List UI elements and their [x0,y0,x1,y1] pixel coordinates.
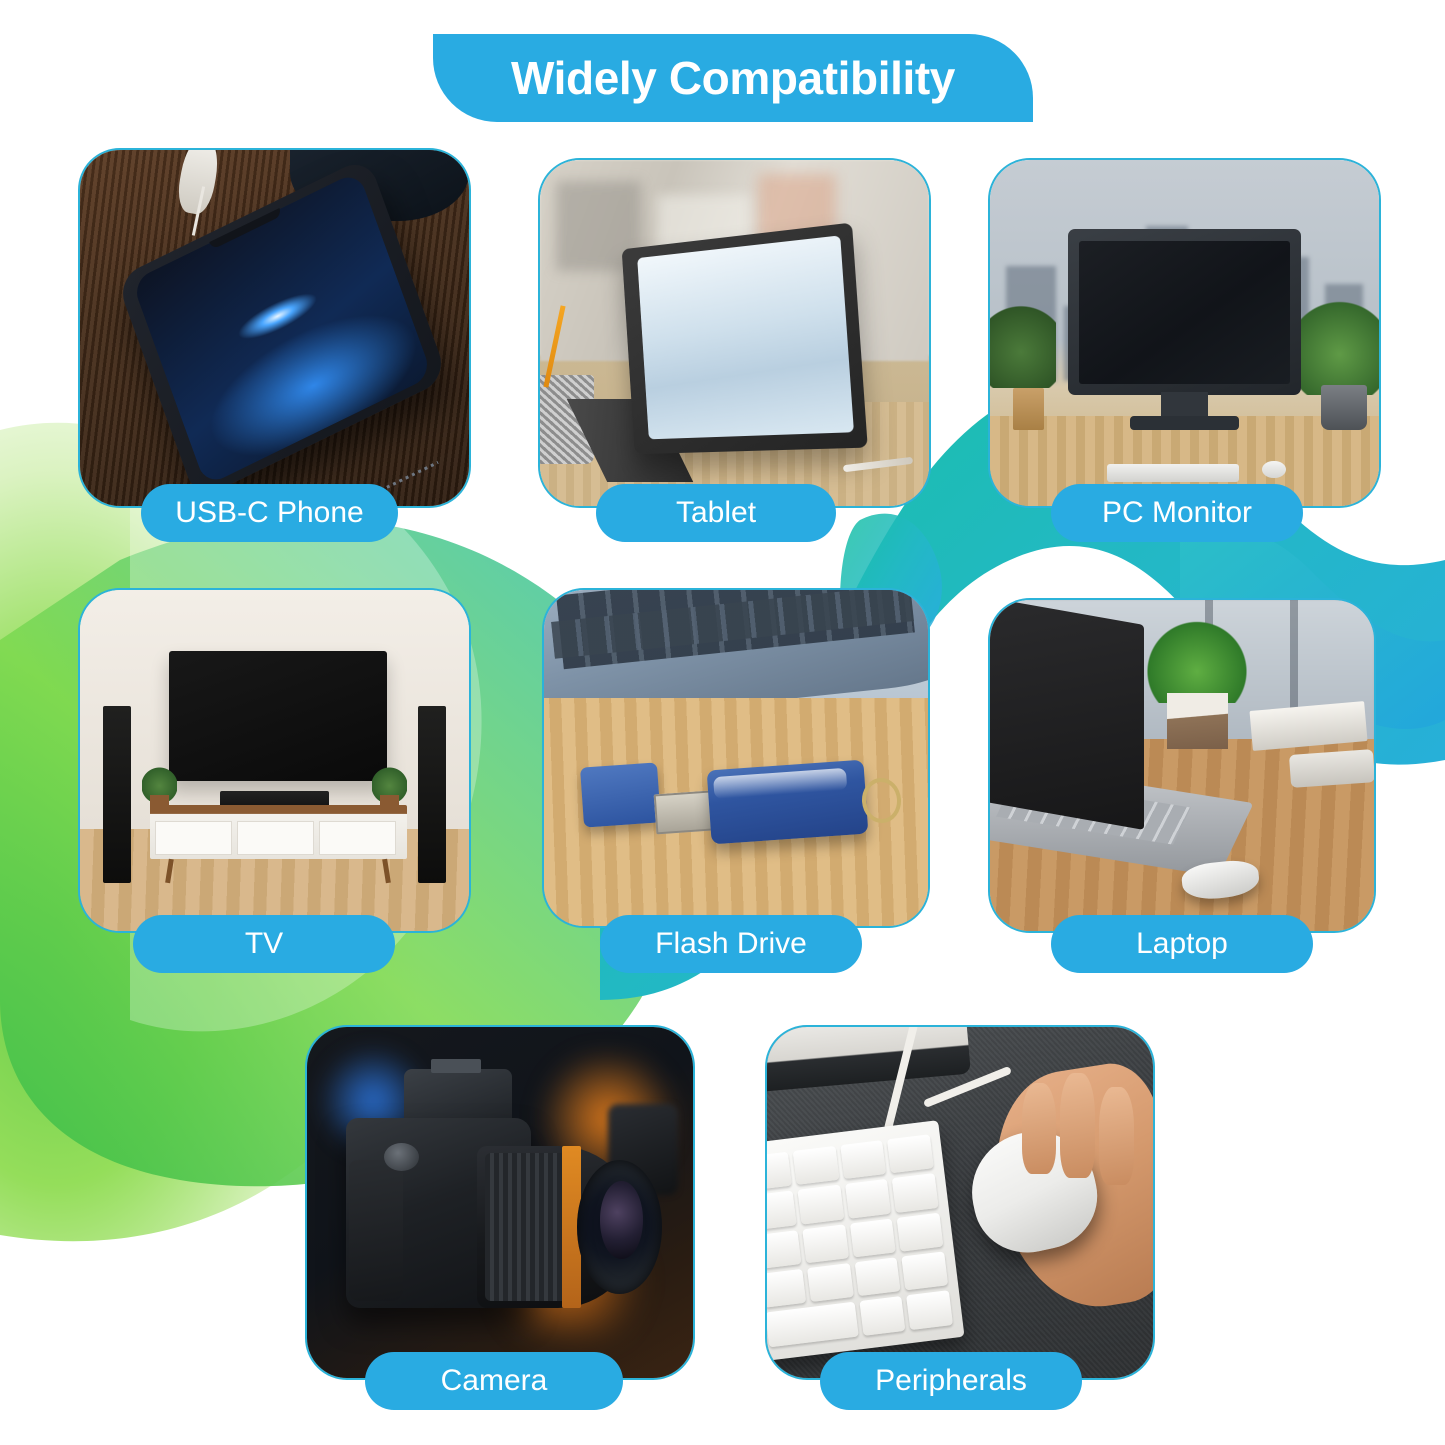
device-label-tablet: Tablet [596,484,836,542]
device-card-flash-drive[interactable] [542,588,930,928]
device-card-tablet[interactable] [538,158,931,508]
page-title: Widely Compatibility [511,55,955,101]
camera-photo [307,1027,693,1378]
device-label-text: TV [245,929,283,959]
laptop-photo [990,600,1374,931]
device-label-text: USB-C Phone [175,498,363,528]
device-label-flash-drive: Flash Drive [600,915,862,973]
flash-drive-photo [544,590,928,926]
pc-monitor-photo [990,160,1379,506]
device-label-usb-c-phone: USB-C Phone [141,484,398,542]
device-label-text: Tablet [676,498,756,528]
title-banner: Widely Compatibility [433,34,1033,122]
peripherals-photo [767,1027,1153,1378]
device-label-text: Laptop [1136,929,1228,959]
device-card-camera[interactable] [305,1025,695,1380]
device-label-peripherals: Peripherals [820,1352,1082,1410]
device-label-text: PC Monitor [1102,498,1252,528]
device-label-pc-monitor: PC Monitor [1051,484,1303,542]
device-card-peripherals[interactable] [765,1025,1155,1380]
device-card-pc-monitor[interactable] [988,158,1381,508]
device-label-text: Flash Drive [655,929,807,959]
infographic-canvas: Widely Compatibility USB-C Phone [0,0,1445,1445]
device-card-tv[interactable] [78,588,471,933]
usb-c-phone-photo [80,150,469,506]
device-card-laptop[interactable] [988,598,1376,933]
device-label-laptop: Laptop [1051,915,1313,973]
tv-photo [80,590,469,931]
device-label-text: Peripherals [875,1366,1027,1396]
device-label-tv: TV [133,915,395,973]
device-label-text: Camera [441,1366,548,1396]
device-card-usb-c-phone[interactable] [78,148,471,508]
tablet-photo [540,160,929,506]
device-label-camera: Camera [365,1352,623,1410]
